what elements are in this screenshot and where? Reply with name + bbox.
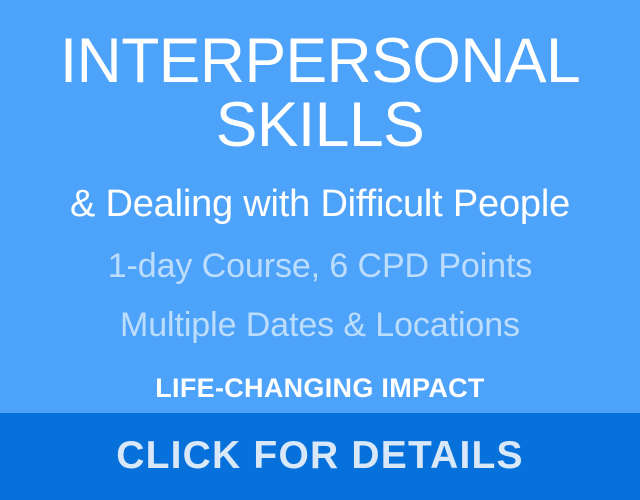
headline-line-2: SKILLS xyxy=(19,93,621,157)
course-detail-dates-locations: Multiple Dates & Locations xyxy=(16,308,624,342)
cta-button[interactable]: CLICK FOR DETAILS xyxy=(0,413,640,500)
banner-message-area: INTERPERSONAL SKILLS & Dealing with Diff… xyxy=(0,0,640,413)
impact-statement: LIFE-CHANGING IMPACT xyxy=(16,375,624,402)
course-detail-duration: 1-day Course, 6 CPD Points xyxy=(16,249,624,283)
cta-label: CLICK FOR DETAILS xyxy=(116,436,524,475)
banner-headline: INTERPERSONAL SKILLS xyxy=(16,29,624,158)
headline-line-1: INTERPERSONAL xyxy=(19,29,621,93)
banner-subheadline: & Dealing with Difficult People xyxy=(16,185,624,223)
advertisement-banner[interactable]: INTERPERSONAL SKILLS & Dealing with Diff… xyxy=(0,0,640,500)
